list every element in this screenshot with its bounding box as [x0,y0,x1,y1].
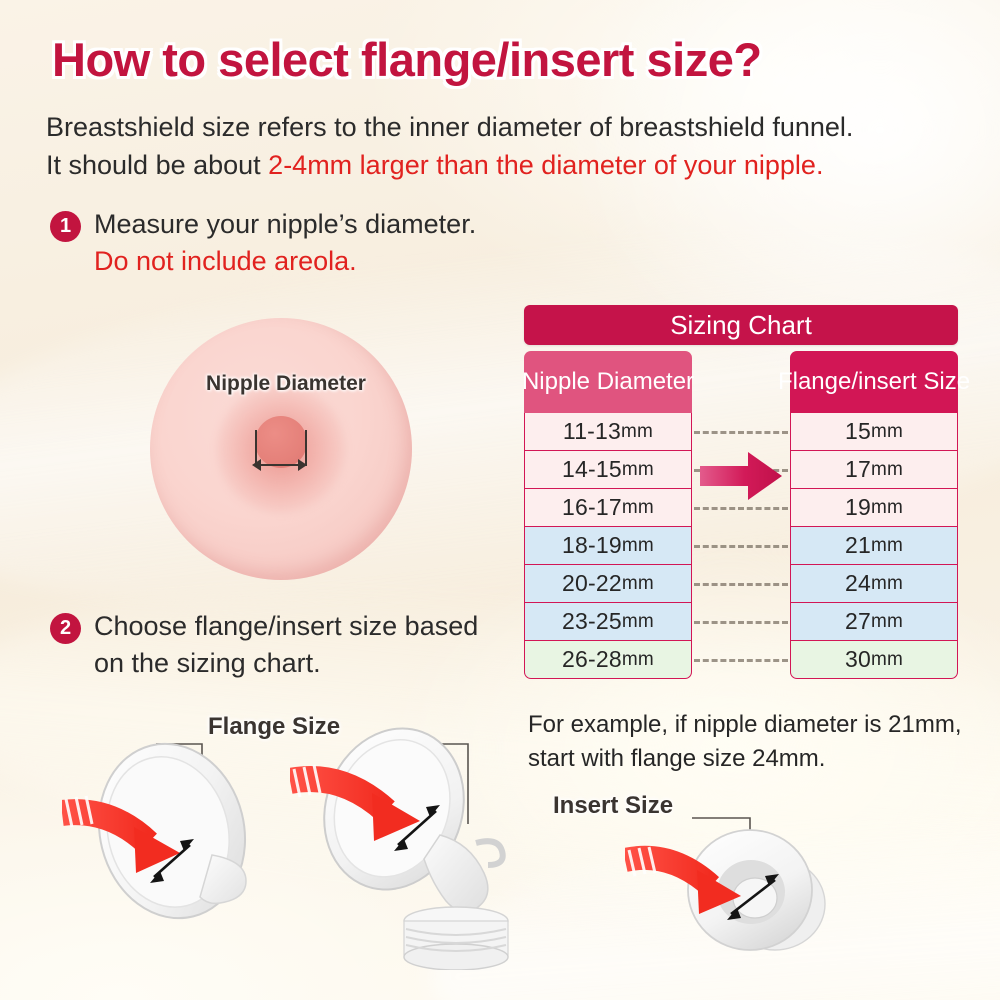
subtitle-line-2: It should be about 2-4mm larger than the… [46,146,976,184]
step-2-line-2: on the sizing chart. [94,645,478,682]
cell-value: 18-19 [562,532,622,559]
cell-value: 20-22 [562,570,622,597]
step-1: 1 Measure your nipple’s diameter. Do not… [50,206,476,281]
table-row: 11-13mm [524,413,692,451]
connector-row-4 [694,527,788,565]
table-row: 18-19mm [524,527,692,565]
table-row: 30mm [790,641,958,679]
cell-unit: mm [622,611,654,633]
table-row: 19mm [790,489,958,527]
example-note-line-2: start with flange size 24mm. [528,742,978,776]
header-left-line-2: Diameter [597,369,694,395]
connector-row-7 [694,641,788,679]
cell-value: 24 [845,570,871,597]
subtitle-highlight: 2-4mm larger than the diameter of your n… [268,150,823,180]
column-flange-insert-size: Flange/insert Size 15mm 17mm 19mm 21mm 2… [790,351,958,679]
column-nipple-diameter: Nipple Diameter 11-13mm 14-15mm 16-17mm … [524,351,692,679]
cell-value: 16-17 [562,494,622,521]
connector-row-5 [694,565,788,603]
cell-unit: mm [622,459,654,481]
table-row: 27mm [790,603,958,641]
cell-value: 30 [845,646,871,673]
table-row: 14-15mm [524,451,692,489]
cell-unit: mm [622,649,654,671]
flange-funnel-illustration [62,735,312,955]
cell-unit: mm [622,497,654,519]
subtitle-line-2-prefix: It should be about [46,150,268,180]
table-row: 23-25mm [524,603,692,641]
cell-unit: mm [871,497,903,519]
column-header-nipple-diameter: Nipple Diameter [524,351,692,413]
table-row: 17mm [790,451,958,489]
nipple-diameter-diagram: Nipple Diameter [150,318,422,590]
step-1-badge: 1 [50,211,81,242]
connector-row-6 [694,603,788,641]
cell-unit: mm [871,421,903,443]
cell-unit: mm [871,649,903,671]
cell-value: 15 [845,418,871,445]
nipple-diameter-label: Nipple Diameter [164,372,408,396]
cell-unit: mm [621,421,653,443]
step-1-text: Measure your nipple’s diameter. Do not i… [94,206,476,281]
cell-unit: mm [622,535,654,557]
step-2-badge: 2 [50,613,81,644]
step-2-text: Choose flange/insert size based on the s… [94,608,478,683]
cell-value: 23-25 [562,608,622,635]
header-left-line-1: Nipple [522,369,590,395]
table-row: 15mm [790,413,958,451]
header-right-line-1: Flange/insert [778,369,917,395]
sizing-chart-title: Sizing Chart [524,305,958,345]
connector-row-1 [694,413,788,451]
cell-value: 26-28 [562,646,622,673]
table-row: 16-17mm [524,489,692,527]
chart-direction-arrow-icon [698,450,784,502]
example-note: For example, if nipple diameter is 21mm,… [528,708,978,775]
step-1-line-1: Measure your nipple’s diameter. [94,206,476,243]
table-row: 26-28mm [524,641,692,679]
page-title: How to select flange/insert size? [52,32,972,87]
insert-size-label: Insert Size [553,792,673,820]
measure-arrowhead-right-icon [298,459,307,471]
measure-arrowhead-left-icon [252,459,261,471]
cell-value: 11-13 [563,418,621,445]
bottle-neck-threads [404,907,508,970]
step-2: 2 Choose flange/insert size based on the… [50,608,520,683]
table-row: 24mm [790,565,958,603]
cell-unit: mm [622,573,654,595]
cell-value: 17 [845,456,871,483]
infographic-page: How to select flange/insert size? Breast… [0,0,1000,1000]
cell-value: 19 [845,494,871,521]
subtitle: Breastshield size refers to the inner di… [46,108,976,185]
cell-unit: mm [871,573,903,595]
column-header-flange-insert-size: Flange/insert Size [790,351,958,413]
insert-illustration [625,818,860,968]
header-right-line-2: Size [923,369,970,395]
sizing-chart: Sizing Chart [524,305,958,679]
example-note-line-1: For example, if nipple diameter is 21mm, [528,708,978,742]
cell-value: 27 [845,608,871,635]
table-row: 21mm [790,527,958,565]
sizing-chart-columns: Nipple Diameter 11-13mm 14-15mm 16-17mm … [524,351,958,679]
step-2-line-1: Choose flange/insert size based [94,608,478,645]
table-row: 20-22mm [524,565,692,603]
pump-flange-illustration [290,725,560,970]
cell-unit: mm [871,459,903,481]
cell-unit: mm [871,611,903,633]
cell-unit: mm [871,535,903,557]
cell-value: 21 [845,532,871,559]
cell-value: 14-15 [562,456,622,483]
subtitle-line-1: Breastshield size refers to the inner di… [46,108,976,146]
step-1-line-2: Do not include areola. [94,243,476,280]
